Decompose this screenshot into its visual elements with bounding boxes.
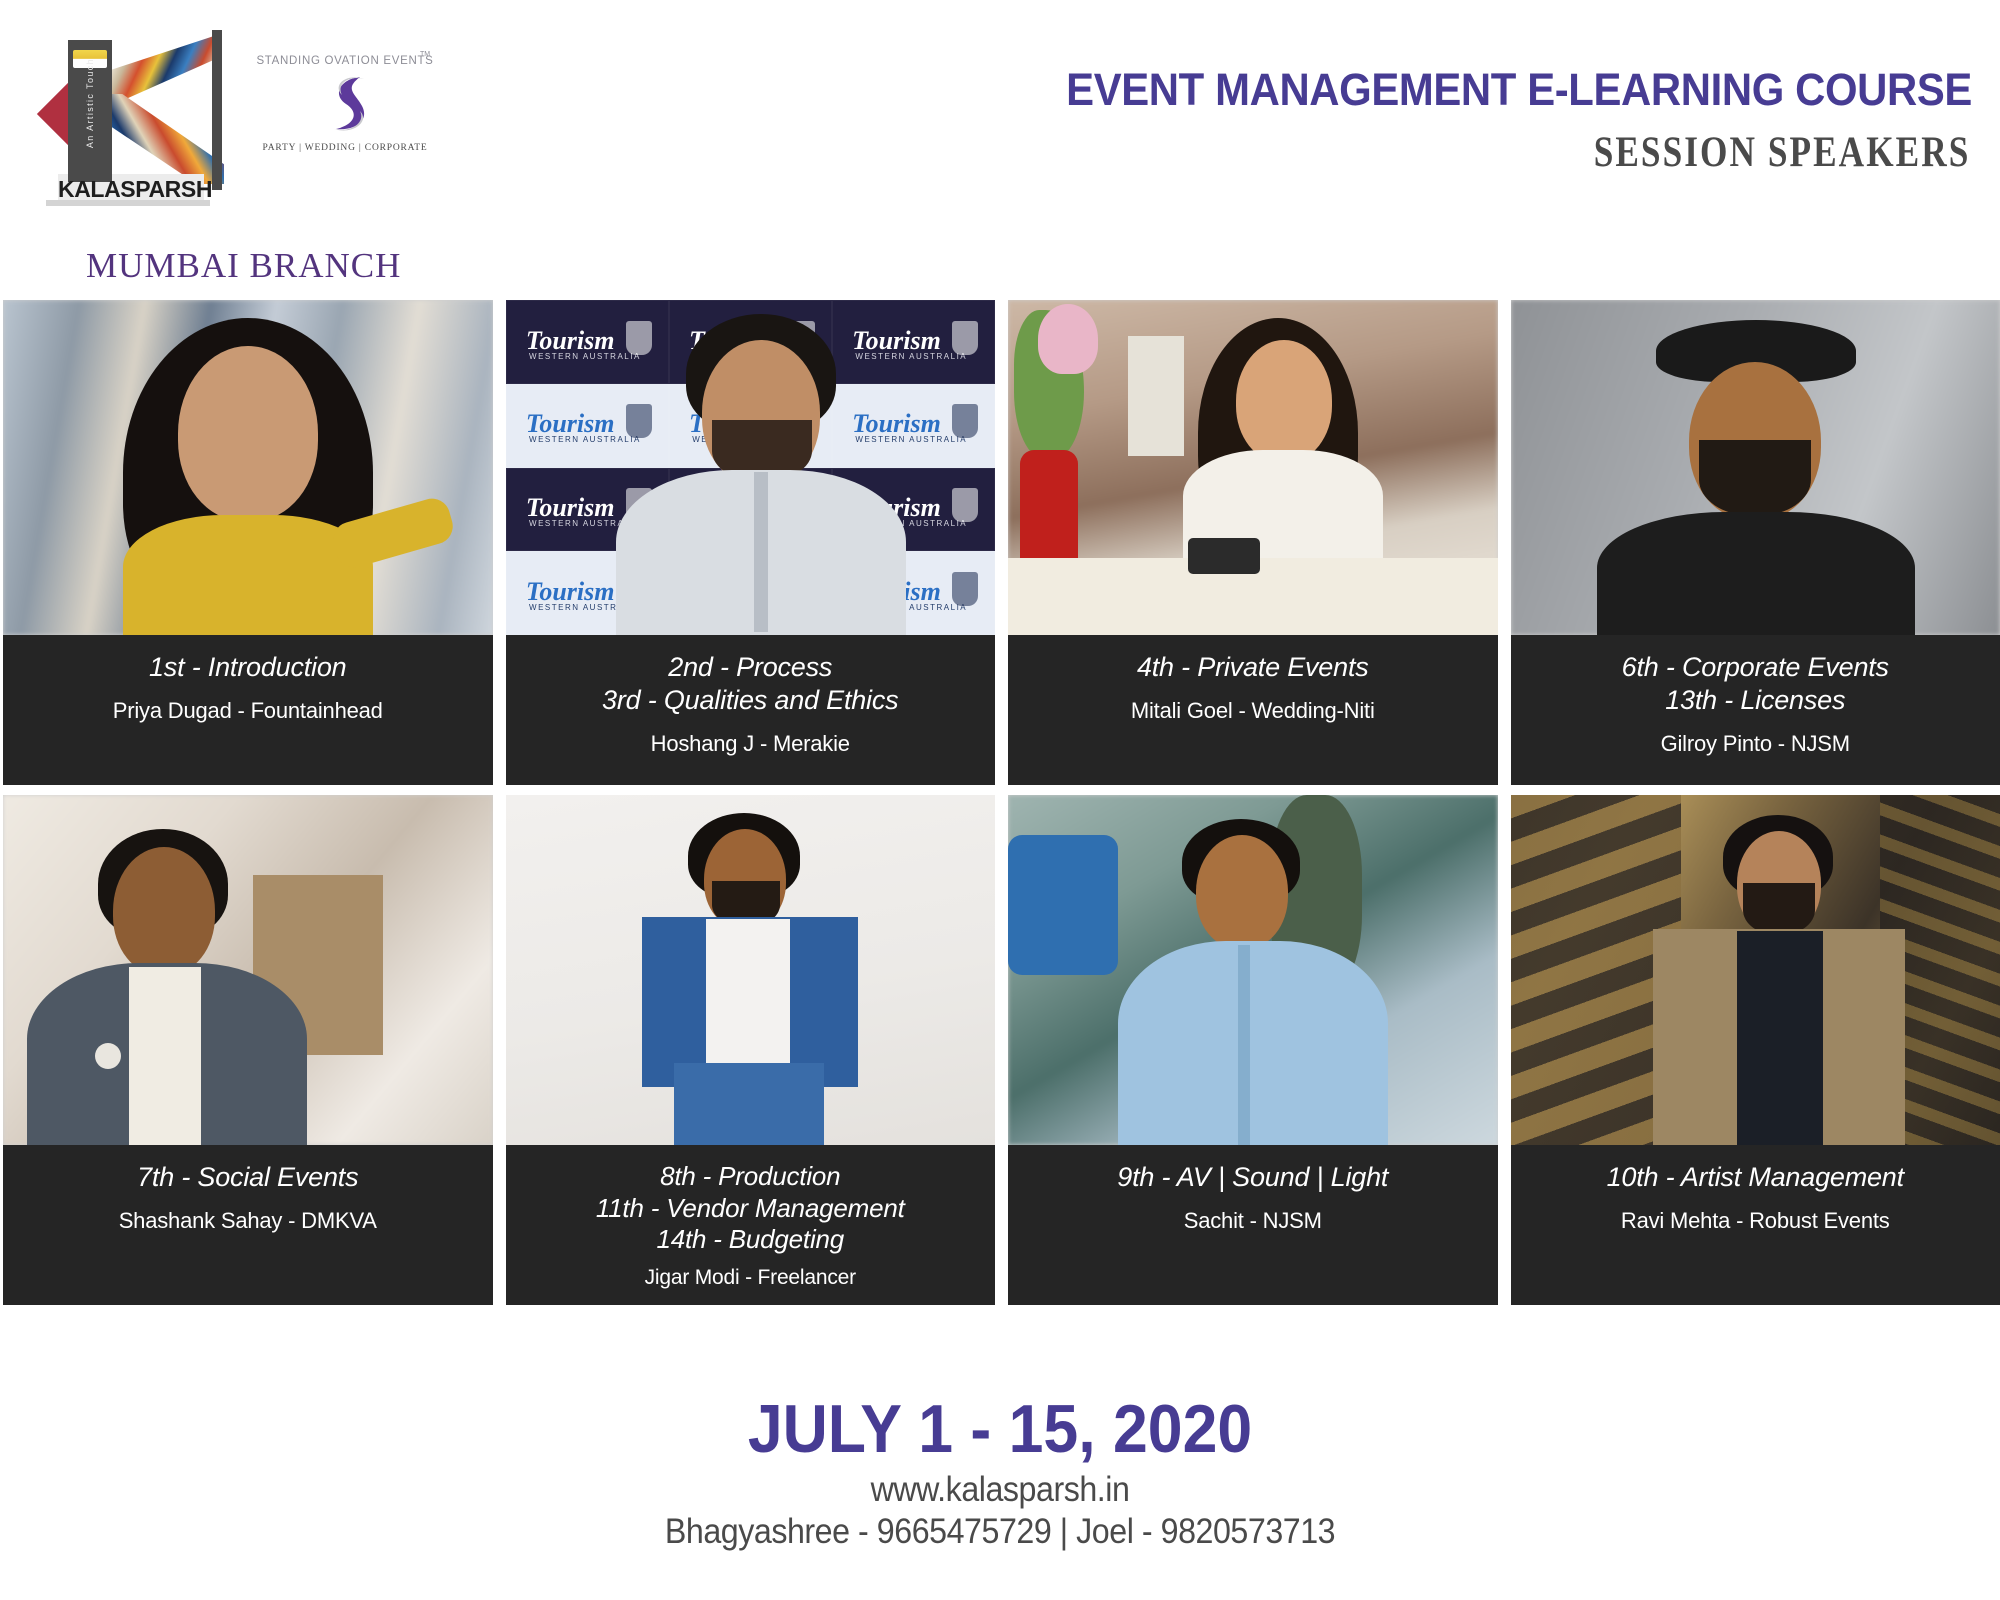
speaker-photo	[506, 795, 996, 1145]
backdrop-sub: WESTERN AUSTRALIA	[529, 352, 641, 361]
page-subtitle: SESSION SPEAKERS	[1593, 128, 1970, 177]
session-list: 7th - Social Events	[13, 1161, 483, 1194]
session-list: 1st - Introduction	[13, 651, 483, 684]
session-line: 13th - Licenses	[1521, 684, 1991, 717]
session-line: 3rd - Qualities and Ethics	[516, 684, 986, 717]
speaker-card[interactable]: 4th - Private Events Mitali Goel - Weddi…	[1008, 300, 1498, 785]
speaker-photo	[1008, 300, 1498, 635]
photo-tshirt	[706, 919, 790, 1069]
branch-label: MUMBAI BRANCH	[86, 246, 401, 286]
photo-face	[113, 847, 215, 975]
backdrop-sub: WESTERN AUSTRALIA	[855, 435, 967, 444]
backdrop-cell: TourismWESTERN AUSTRALIA	[506, 300, 669, 384]
backdrop-cell: TourismWESTERN AUSTRALIA	[832, 300, 995, 384]
kalasparsh-k-mark: An Artistic Touch	[38, 28, 218, 183]
speaker-card[interactable]: 6th - Corporate Events 13th - Licenses G…	[1511, 300, 2000, 785]
photo-shirt-placket	[754, 472, 768, 632]
header-divider	[212, 30, 222, 190]
speaker-photo	[3, 300, 493, 635]
standing-ovation-events-logo: STANDING OVATION EVENTS TM PARTY | WEDDI…	[250, 55, 450, 175]
crest-icon	[952, 404, 978, 438]
speaker-caption: 1st - Introduction Priya Dugad - Fountai…	[3, 635, 493, 785]
speaker-name: Hoshang J - Merakie	[516, 731, 986, 757]
photo-shirt-placket	[1238, 945, 1250, 1145]
speaker-name: Sachit - NJSM	[1018, 1208, 1488, 1234]
page-footer: JULY 1 - 15, 2020 www.kalasparsh.in Bhag…	[0, 1395, 2000, 1552]
speaker-name: Gilroy Pinto - NJSM	[1521, 731, 1991, 757]
session-list: 9th - AV | Sound | Light	[1018, 1161, 1488, 1194]
speaker-caption: 9th - AV | Sound | Light Sachit - NJSM	[1008, 1145, 1498, 1305]
photo-flower	[1038, 304, 1098, 374]
page-title: EVENT MANAGEMENT E-LEARNING COURSE	[1066, 64, 1972, 116]
speaker-photo: TourismWESTERN AUSTRALIA TourismWESTERN …	[506, 300, 996, 635]
speaker-card[interactable]: TourismWESTERN AUSTRALIA TourismWESTERN …	[506, 300, 996, 785]
speaker-photo	[1511, 795, 2000, 1145]
speaker-photo	[3, 795, 493, 1145]
speaker-row-2: 7th - Social Events Shashank Sahay - DMK…	[0, 795, 2000, 1305]
session-line: 14th - Budgeting	[516, 1224, 986, 1256]
speaker-name: Ravi Mehta - Robust Events	[1521, 1208, 1991, 1234]
speaker-caption: 6th - Corporate Events 13th - Licenses G…	[1511, 635, 2000, 785]
session-line: 2nd - Process	[516, 651, 986, 684]
course-dates: JULY 1 - 15, 2020	[80, 1395, 1920, 1464]
backdrop-cell: TourismWESTERN AUSTRALIA	[832, 384, 995, 468]
photo-torso	[1597, 512, 1915, 635]
session-line: 4th - Private Events	[1018, 651, 1488, 684]
swirl-icon	[320, 73, 376, 135]
kalasparsh-wordmark: KALASPARSH	[58, 176, 204, 203]
photo-face	[178, 346, 318, 521]
k-lower-arm-art	[100, 94, 224, 184]
speaker-card[interactable]: 9th - AV | Sound | Light Sachit - NJSM	[1008, 795, 1498, 1305]
backdrop-sub: WESTERN AUSTRALIA	[529, 435, 641, 444]
speaker-caption: 7th - Social Events Shashank Sahay - DMK…	[3, 1145, 493, 1305]
crest-icon	[626, 321, 652, 355]
trademark-symbol: TM	[420, 51, 430, 58]
speaker-card[interactable]: 1st - Introduction Priya Dugad - Fountai…	[3, 300, 493, 785]
speaker-caption: 2nd - Process 3rd - Qualities and Ethics…	[506, 635, 996, 785]
crest-icon	[626, 404, 652, 438]
backdrop-sub: WESTERN AUSTRALIA	[855, 352, 967, 361]
page-header: An Artistic Touch KALASPARSH STANDING OV…	[0, 0, 2000, 300]
session-line: 7th - Social Events	[13, 1161, 483, 1194]
photo-dress-shirt	[129, 967, 201, 1145]
photo-beard	[1743, 883, 1815, 935]
speaker-name: Priya Dugad - Fountainhead	[13, 698, 483, 724]
contact-numbers: Bhagyashree - 9665475729 | Joel - 982057…	[80, 1512, 1920, 1552]
speaker-caption: 4th - Private Events Mitali Goel - Weddi…	[1008, 635, 1498, 785]
session-line: 11th - Vendor Management	[516, 1193, 986, 1225]
session-line: 9th - AV | Sound | Light	[1018, 1161, 1488, 1194]
website-link[interactable]: www.kalasparsh.in	[80, 1470, 1920, 1510]
photo-face	[1236, 340, 1332, 462]
speaker-name: Shashank Sahay - DMKVA	[13, 1208, 483, 1234]
speaker-card[interactable]: 8th - Production 11th - Vendor Managemen…	[506, 795, 996, 1305]
speaker-photo	[1511, 300, 2000, 635]
photo-jeans	[674, 1063, 824, 1145]
session-line: 10th - Artist Management	[1521, 1161, 1991, 1194]
photo-shirt	[1118, 941, 1388, 1145]
session-list: 6th - Corporate Events 13th - Licenses	[1521, 651, 1991, 717]
speaker-row-1: 1st - Introduction Priya Dugad - Fountai…	[0, 300, 2000, 785]
photo-bg-person	[1128, 336, 1184, 456]
photo-blue-structure	[1008, 835, 1118, 975]
session-list: 4th - Private Events	[1018, 651, 1488, 684]
kalasparsh-logo: An Artistic Touch KALASPARSH	[38, 28, 218, 208]
session-line: 6th - Corporate Events	[1521, 651, 1991, 684]
crest-icon	[952, 572, 978, 606]
speaker-card[interactable]: 10th - Artist Management Ravi Mehta - Ro…	[1511, 795, 2000, 1305]
speaker-caption: 10th - Artist Management Ravi Mehta - Ro…	[1511, 1145, 2000, 1305]
session-line: 8th - Production	[516, 1161, 986, 1193]
session-list: 8th - Production 11th - Vendor Managemen…	[516, 1161, 986, 1256]
k-stem-bar: An Artistic Touch	[68, 40, 112, 182]
k-upper-arm-art	[100, 34, 220, 102]
photo-phone	[1188, 538, 1260, 574]
logo-tagline: An Artistic Touch	[85, 57, 95, 149]
partner-name: STANDING OVATION EVENTS	[250, 55, 440, 67]
photo-lapel-badge	[95, 1043, 121, 1069]
session-list: 10th - Artist Management	[1521, 1161, 1991, 1194]
backdrop-cell: TourismWESTERN AUSTRALIA	[506, 384, 669, 468]
crest-icon	[952, 488, 978, 522]
partner-services: PARTY | WEDDING | CORPORATE	[250, 143, 440, 153]
session-list: 2nd - Process 3rd - Qualities and Ethics	[516, 651, 986, 717]
speaker-name: Jigar Modi - Freelancer	[516, 1266, 986, 1290]
photo-face	[1196, 835, 1288, 949]
crest-icon	[952, 321, 978, 355]
speaker-card[interactable]: 7th - Social Events Shashank Sahay - DMK…	[3, 795, 493, 1305]
photo-beard	[1699, 440, 1811, 516]
photo-tshirt	[1737, 931, 1823, 1145]
session-line: 1st - Introduction	[13, 651, 483, 684]
speaker-name: Mitali Goel - Wedding-Niti	[1018, 698, 1488, 724]
speaker-photo	[1008, 795, 1498, 1145]
speaker-caption: 8th - Production 11th - Vendor Managemen…	[506, 1145, 996, 1305]
speaker-grid: 1st - Introduction Priya Dugad - Fountai…	[0, 300, 2000, 1305]
